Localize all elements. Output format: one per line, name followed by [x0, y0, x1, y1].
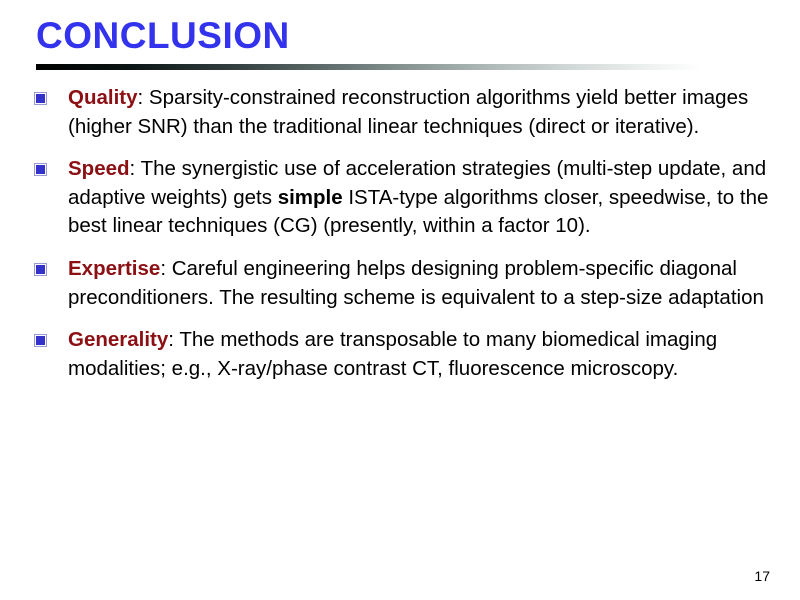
bullet-body-text: Sparsity-constrained reconstruction algo…: [68, 86, 748, 138]
bullet-keyword: Quality: [68, 86, 138, 109]
bullet-body-text: Careful engineering helps designing prob…: [68, 257, 764, 309]
bullet-keyword: Generality: [68, 328, 168, 351]
bullet-separator: :: [168, 328, 179, 351]
bullet-separator: :: [138, 86, 149, 109]
list-item: Generality: The methods are transposable…: [30, 326, 770, 383]
square-bullet-icon: [36, 165, 45, 174]
page-number: 17: [754, 568, 770, 584]
bullet-emphasis-text: simple: [278, 186, 343, 209]
bullet-keyword: Expertise: [68, 257, 160, 280]
list-item: Quality: Sparsity-constrained reconstruc…: [30, 84, 770, 141]
bullet-list: Quality: Sparsity-constrained reconstruc…: [30, 84, 770, 397]
presentation-slide: CONCLUSION Quality: Sparsity-constrained…: [0, 0, 800, 600]
title-divider-rule: [36, 64, 702, 70]
bullet-separator: :: [130, 157, 141, 180]
list-item: Speed: The synergistic use of accelerati…: [30, 155, 770, 241]
title-block: CONCLUSION: [36, 14, 736, 58]
page-title: CONCLUSION: [36, 14, 736, 58]
square-bullet-icon: [36, 265, 45, 274]
square-bullet-icon: [36, 94, 45, 103]
list-item: Expertise: Careful engineering helps des…: [30, 255, 770, 312]
bullet-separator: :: [160, 257, 171, 280]
square-bullet-icon: [36, 336, 45, 345]
bullet-keyword: Speed: [68, 157, 130, 180]
